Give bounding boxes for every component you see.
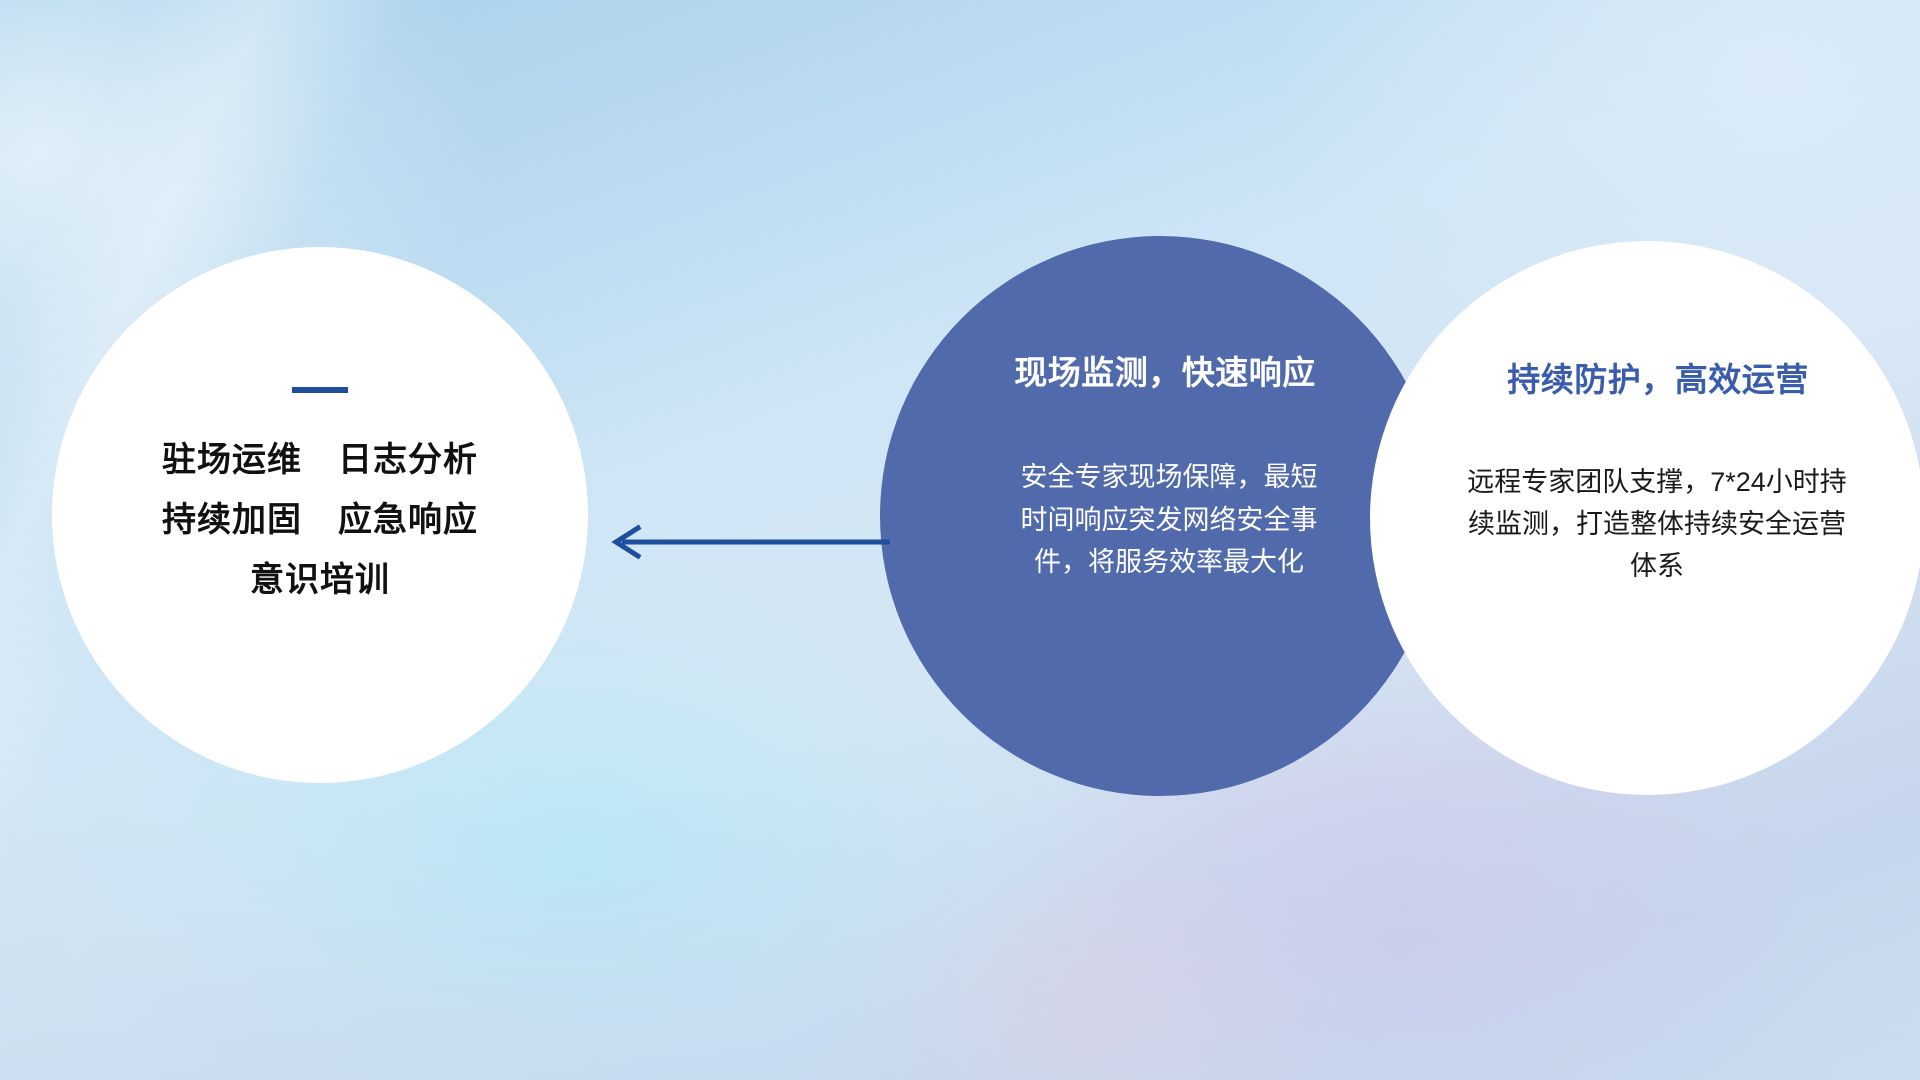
middle-circle-body-text: 安全专家现场保障，最短时间响应突发网络安全事件，将服务效率最大化 (1013, 456, 1325, 584)
right-circle-content: 持续防护，高效运营 远程专家团队支撑，7*24小时持续监测，打造整体持续安全运营… (1370, 241, 1920, 587)
capability-tag[interactable]: 意识培训 (250, 563, 390, 597)
left-capability-circle[interactable]: 驻场运维 日志分析 持续加固 应急响应 意识培训 (52, 247, 588, 783)
capability-tag[interactable]: 日志分析 (338, 443, 478, 477)
right-circle-title: 持续防护，高效运营 (1507, 353, 1809, 401)
capability-tag[interactable]: 应急响应 (338, 503, 478, 537)
right-continuous-protection-circle[interactable]: 持续防护，高效运营 远程专家团队支撑，7*24小时持续监测，打造整体持续安全运营… (1370, 241, 1920, 795)
slide-canvas: 驻场运维 日志分析 持续加固 应急响应 意识培训 现场监测，快速响应 安全专家 (0, 0, 1920, 1080)
middle-onsite-monitoring-circle[interactable]: 现场监测，快速响应 安全专家现场保障，最短时间响应突发网络安全事件，将服务效率最… (880, 236, 1440, 796)
right-circle-body-text: 远程专家团队支撑，7*24小时持续监测，打造整体持续安全运营体系 (1457, 461, 1857, 587)
left-circle-content: 驻场运维 日志分析 持续加固 应急响应 意识培训 (52, 247, 588, 597)
middle-circle-content: 现场监测，快速响应 安全专家现场保障，最短时间响应突发网络安全事件，将服务效率最… (880, 236, 1440, 584)
middle-circle-title: 现场监测，快速响应 (1014, 346, 1316, 394)
capability-tag-row: 持续加固 应急响应 (162, 503, 478, 537)
accent-dash-icon (292, 387, 348, 393)
left-pointing-arrow-icon (600, 520, 890, 564)
capability-tag-row: 意识培训 (250, 563, 390, 597)
capability-tag[interactable]: 持续加固 (162, 503, 302, 537)
capability-tag-row: 驻场运维 日志分析 (162, 443, 478, 477)
capability-tag[interactable]: 驻场运维 (162, 443, 302, 477)
capability-tag-list: 驻场运维 日志分析 持续加固 应急响应 意识培训 (162, 443, 478, 597)
